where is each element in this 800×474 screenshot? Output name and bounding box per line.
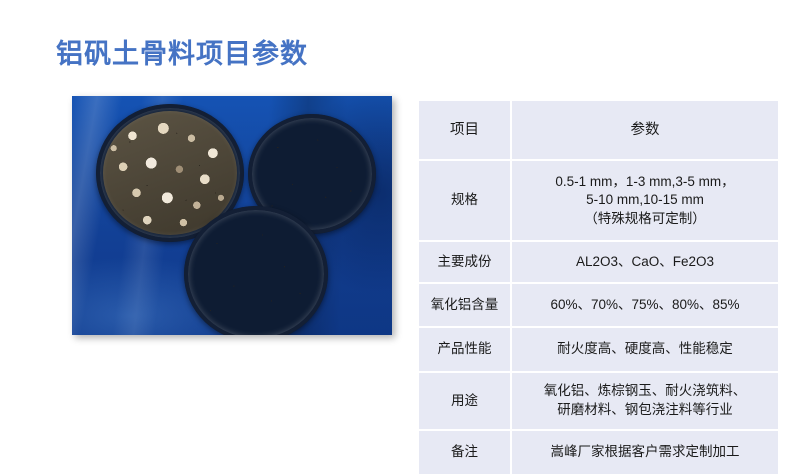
- page-title: 铝矾土骨料项目参数: [56, 38, 308, 70]
- row-value-performance: 耐火度高、硬度高、性能稳定: [512, 328, 778, 373]
- table-row: 用途 氧化铝、炼棕钢玉、耐火浇筑料、 研磨材料、钢包浇注料等行业: [419, 373, 778, 431]
- table-row: 备注 嵩峰厂家根据客户需求定制加工: [419, 431, 778, 474]
- row-label-specification: 规格: [419, 161, 512, 242]
- row-value-remark: 嵩峰厂家根据客户需求定制加工: [512, 431, 778, 474]
- column-header-item: 项目: [419, 101, 512, 161]
- table-row: 氧化铝含量 60%、70%、75%、80%、85%: [419, 284, 778, 328]
- table-row: 规格 0.5-1 mm，1-3 mm,3-5 mm， 5-10 mm,10-15…: [419, 161, 778, 242]
- row-label-composition: 主要成份: [419, 242, 512, 284]
- parameter-table: 项目 参数 规格 0.5-1 mm，1-3 mm,3-5 mm， 5-10 mm…: [419, 101, 778, 474]
- row-value-alumina-content: 60%、70%、75%、80%、85%: [512, 284, 778, 328]
- row-label-application: 用途: [419, 373, 512, 431]
- row-value-application: 氧化铝、炼棕钢玉、耐火浇筑料、 研磨材料、钢包浇注料等行业: [512, 373, 778, 431]
- table-header-row: 项目 参数: [419, 101, 778, 161]
- row-label-alumina-content: 氧化铝含量: [419, 284, 512, 328]
- bowl-fine-aggregate: [184, 206, 328, 335]
- product-photo: [72, 96, 392, 335]
- row-label-performance: 产品性能: [419, 328, 512, 373]
- row-value-specification: 0.5-1 mm，1-3 mm,3-5 mm， 5-10 mm,10-15 mm…: [512, 161, 778, 242]
- column-header-parameter: 参数: [512, 101, 778, 161]
- fine-aggregate-fill: [191, 213, 321, 335]
- table-row: 产品性能 耐火度高、硬度高、性能稳定: [419, 328, 778, 373]
- row-value-composition: AL2O3、CaO、Fe2O3: [512, 242, 778, 284]
- row-label-remark: 备注: [419, 431, 512, 474]
- table-row: 主要成份 AL2O3、CaO、Fe2O3: [419, 242, 778, 284]
